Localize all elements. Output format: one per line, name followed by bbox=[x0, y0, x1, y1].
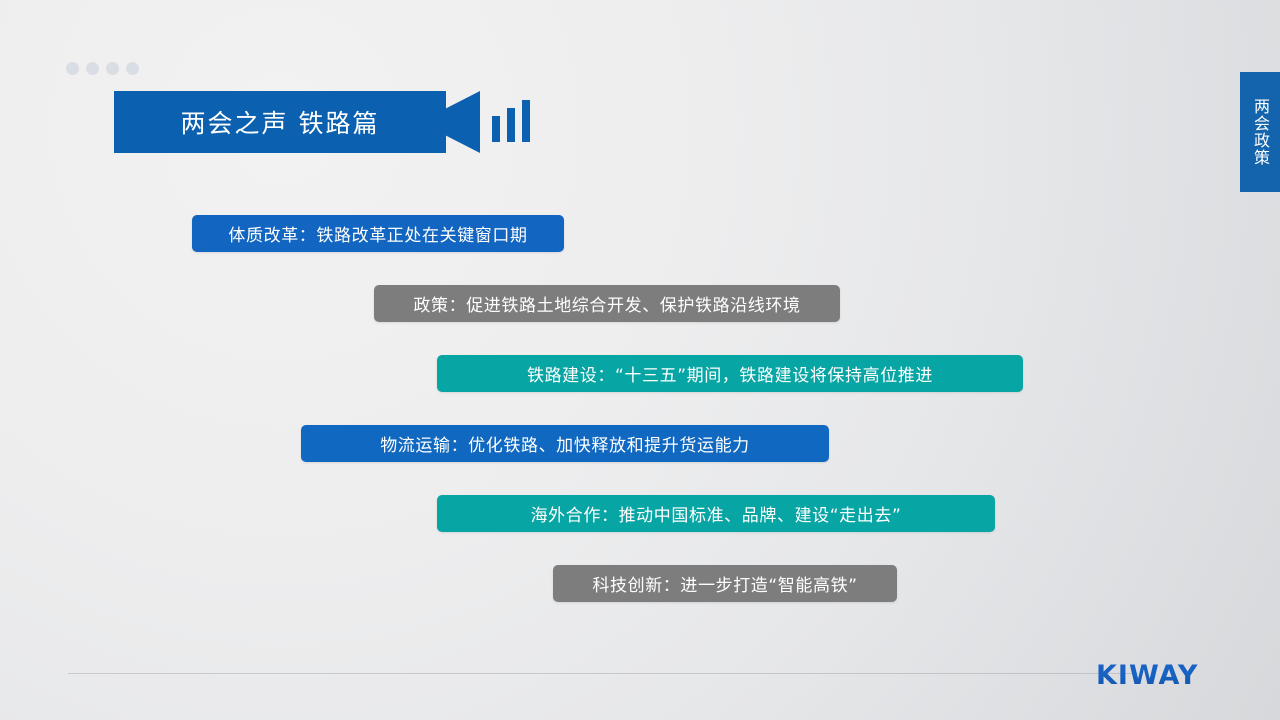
sound-wave-bar-icon bbox=[507, 108, 515, 142]
slide-canvas: 两会之声 铁路篇 两会政策 体质改革：铁路改革正处在关键窗口期 政策：促进铁路土… bbox=[0, 0, 1280, 720]
decorative-dots bbox=[66, 62, 139, 75]
content-bar-overseas-cooperation[interactable]: 海外合作：推动中国标准、品牌、建设“走出去” bbox=[437, 495, 995, 532]
content-bar-label: 物流运输：优化铁路、加快释放和提升货运能力 bbox=[380, 431, 750, 456]
dot-icon bbox=[106, 62, 119, 75]
content-bar-logistics-transport[interactable]: 物流运输：优化铁路、加快释放和提升货运能力 bbox=[301, 425, 829, 462]
page-title: 两会之声 铁路篇 bbox=[181, 104, 380, 140]
title-banner: 两会之声 铁路篇 bbox=[114, 91, 530, 153]
sound-wave-bar-icon bbox=[522, 100, 530, 142]
content-bar-label: 政策：促进铁路土地综合开发、保护铁路沿线环境 bbox=[413, 291, 800, 316]
dot-icon bbox=[66, 62, 79, 75]
side-tab-policy[interactable]: 两会政策 bbox=[1240, 72, 1280, 192]
dot-icon bbox=[86, 62, 99, 75]
content-bar-railway-construction[interactable]: 铁路建设：“十三五”期间，铁路建设将保持高位推进 bbox=[437, 355, 1023, 392]
content-bar-label: 铁路建设：“十三五”期间，铁路建设将保持高位推进 bbox=[527, 361, 933, 386]
kiway-logo: KIWAY bbox=[1096, 660, 1198, 691]
content-bar-label: 海外合作：推动中国标准、品牌、建设“走出去” bbox=[531, 501, 902, 526]
side-tab-label: 两会政策 bbox=[1251, 98, 1269, 166]
sound-wave-bar-icon bbox=[492, 116, 500, 142]
content-bar-label: 体质改革：铁路改革正处在关键窗口期 bbox=[228, 221, 527, 246]
content-bar-tech-innovation[interactable]: 科技创新：进一步打造“智能高铁” bbox=[553, 565, 897, 602]
dot-icon bbox=[126, 62, 139, 75]
title-bar: 两会之声 铁路篇 bbox=[114, 91, 446, 153]
content-bar-label: 科技创新：进一步打造“智能高铁” bbox=[592, 571, 857, 596]
footer-divider bbox=[68, 673, 1138, 674]
content-bar-policy[interactable]: 政策：促进铁路土地综合开发、保护铁路沿线环境 bbox=[374, 285, 840, 322]
sound-waves-icon bbox=[492, 91, 530, 153]
megaphone-icon bbox=[446, 91, 480, 153]
content-bar-institutional-reform[interactable]: 体质改革：铁路改革正处在关键窗口期 bbox=[192, 215, 564, 252]
